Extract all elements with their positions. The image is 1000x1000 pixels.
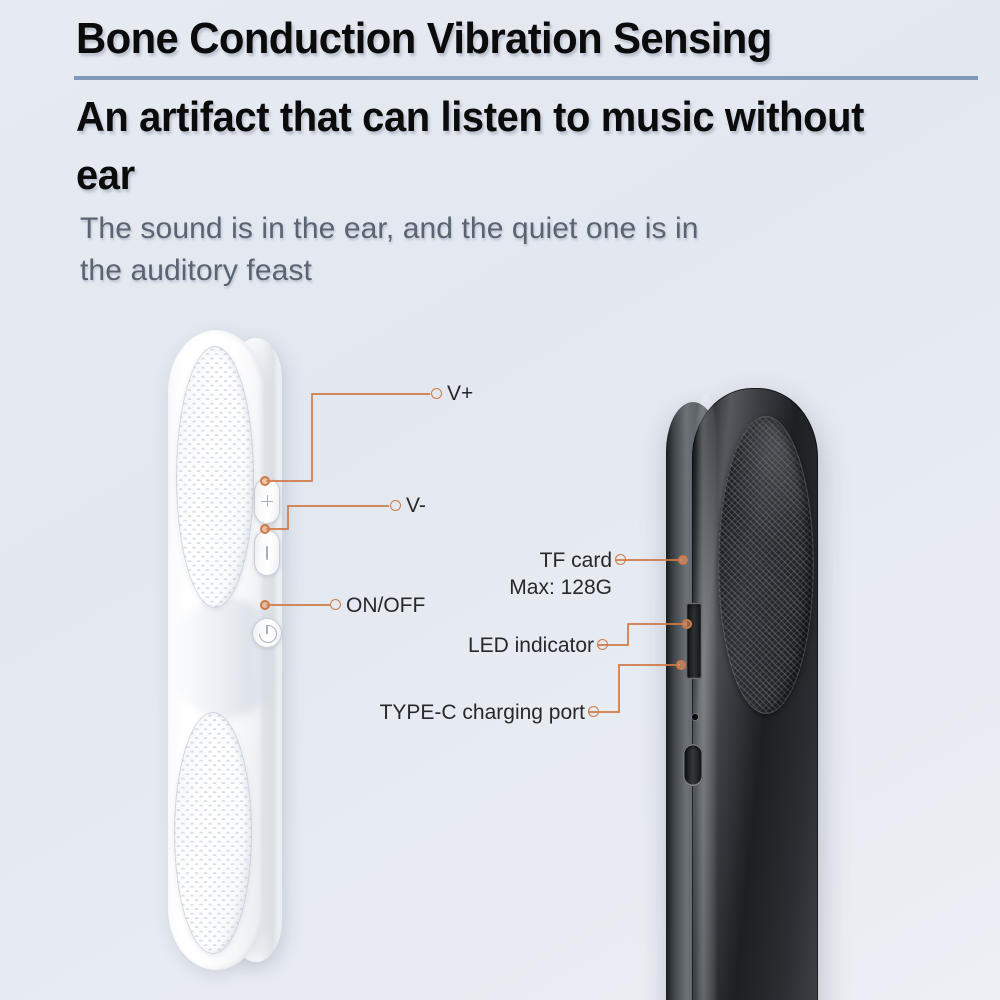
page-title: Bone Conduction Vibration Sensing [76, 14, 772, 64]
usb-type-c-port[interactable] [683, 744, 703, 786]
white-device-bottom-vibration-pad [174, 712, 252, 954]
led-indicator-pinhole [692, 714, 698, 720]
white-device-waist-shading [170, 598, 282, 718]
power-button[interactable] [252, 618, 282, 648]
page-tagline: The sound is in the ear, and the quiet o… [80, 208, 720, 292]
black-device [666, 388, 831, 1000]
product-illustration-stage [0, 300, 1000, 1000]
title-divider [74, 76, 978, 80]
black-device-top-vibration-pad [718, 416, 814, 714]
volume-up-button[interactable] [254, 478, 280, 524]
volume-down-button[interactable] [254, 530, 280, 576]
page-subtitle: An artifact that can listen to music wit… [76, 88, 865, 204]
white-device-top-vibration-pad [176, 346, 254, 608]
white-device [168, 330, 298, 970]
tf-card-slot[interactable] [686, 603, 702, 679]
black-device-bevel-highlight [696, 394, 716, 1000]
